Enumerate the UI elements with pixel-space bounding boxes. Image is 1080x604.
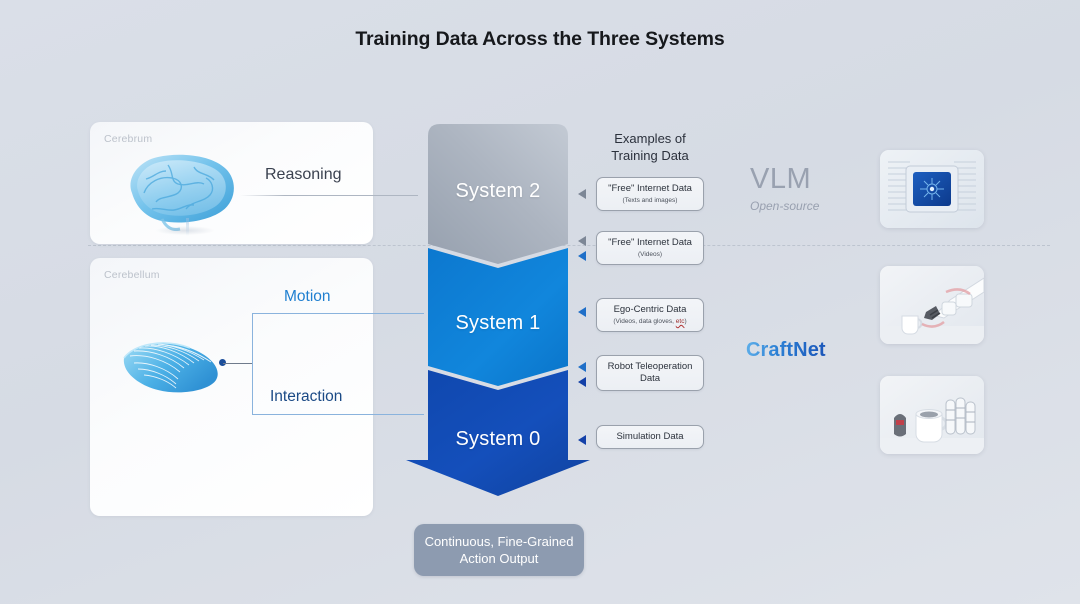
reasoning-label: Reasoning [265, 166, 342, 184]
examples-heading: Examples of Training Data [592, 130, 708, 164]
data-box-subtitle: (Videos) [601, 250, 699, 259]
reasoning-connector-line [240, 195, 418, 196]
brain-icon [122, 149, 240, 231]
subtitle-post: ) [684, 318, 686, 325]
cerebellum-label: Cerebellum [104, 269, 160, 281]
cerebellum-icon [120, 336, 226, 398]
data-box-simulation: Simulation Data [596, 425, 704, 449]
vlm-label: VLM [750, 163, 811, 196]
cerebrum-label: Cerebrum [104, 133, 152, 145]
chip-processor-image [880, 150, 984, 228]
action-output-chip: Continuous, Fine-Grained Action Output [414, 524, 584, 576]
system-2-label: System 2 [398, 180, 598, 203]
connector-arrow-4b [578, 377, 586, 387]
vlm-sublabel: Open-source [750, 199, 819, 213]
connector-arrow-4a [578, 362, 586, 372]
craftnet-label: CraftNet [746, 339, 826, 362]
connector-arrow-3 [578, 307, 586, 317]
connector-arrow-2a [578, 236, 586, 246]
connector-arrow-1 [578, 189, 586, 199]
data-box-title: Robot Teleoperation Data [601, 361, 699, 385]
robot-hand-holding-cup-image [880, 376, 984, 454]
data-box-subtitle: (Texts and images) [601, 196, 699, 205]
data-box-teleoperation: Robot Teleoperation Data [596, 355, 704, 391]
data-box-internet-video: "Free" Internet Data (Videos) [596, 231, 704, 265]
data-box-subtitle: (Videos, data gloves, etc) [601, 317, 699, 326]
three-system-arrow: System 2 System 1 System 0 [398, 122, 598, 497]
data-box-ego-centric: Ego-Centric Data (Videos, data gloves, e… [596, 298, 704, 332]
brain-shadow [156, 226, 214, 235]
data-box-title: Simulation Data [601, 431, 699, 443]
interaction-label: Interaction [270, 388, 342, 406]
brain-stem [186, 218, 189, 236]
data-box-title: Ego-Centric Data [601, 304, 699, 316]
cerebellum-connector-stub [223, 363, 253, 364]
page-title: Training Data Across the Three Systems [0, 28, 1080, 51]
connector-arrow-5 [578, 435, 586, 445]
system-0-label: System 0 [398, 428, 598, 451]
connector-arrow-2b [578, 251, 586, 261]
data-box-internet-text: "Free" Internet Data (Texts and images) [596, 177, 704, 211]
motion-label: Motion [284, 288, 331, 306]
data-box-title: "Free" Internet Data [601, 237, 699, 249]
subtitle-pre: (Videos, data gloves, [613, 318, 675, 325]
robot-hand-reaching-cup-image [880, 266, 984, 344]
data-box-title: "Free" Internet Data [601, 183, 699, 195]
system-1-label: System 1 [398, 312, 598, 335]
